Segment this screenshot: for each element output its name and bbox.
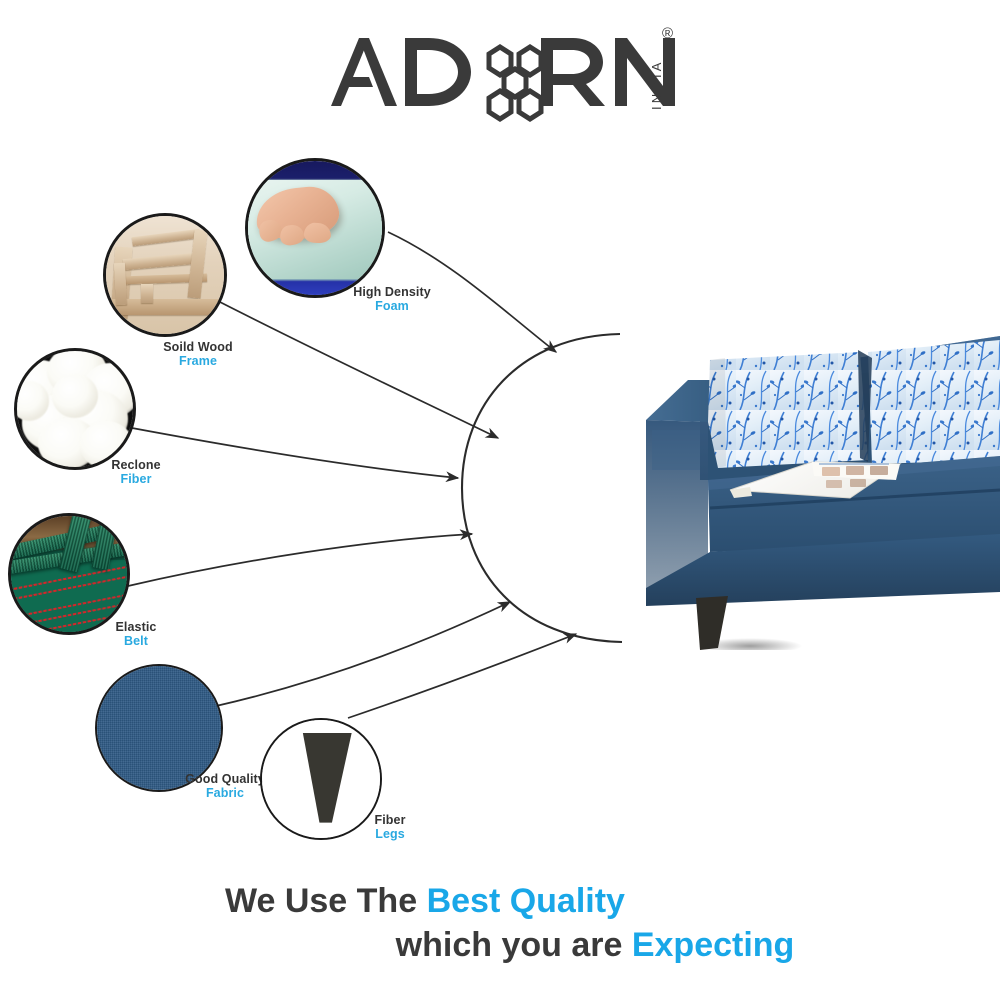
svg-text:INDIA: INDIA (649, 59, 664, 110)
label-high-density-foam: High Density Foam (332, 285, 452, 313)
label-elastic-belt: Elastic Belt (93, 620, 179, 648)
feature-image-solid-wood-frame (103, 213, 227, 337)
sofa-product-image (600, 330, 1000, 650)
logo-india-vertical: INDIA (649, 59, 664, 110)
arrow-elastic-belt (128, 534, 472, 586)
label-line2: Foam (332, 299, 452, 313)
label-reclone-fiber: Reclone Fiber (88, 458, 184, 486)
floral-cushion-right (868, 340, 1000, 464)
green-elastic-webbing-photo (11, 516, 127, 632)
tagline-row2-blue: Expecting (632, 926, 794, 964)
convergence-circle-arc (462, 334, 622, 642)
label-line1: Soild Wood (138, 340, 258, 354)
label-line1: Reclone (88, 458, 184, 472)
honeycomb-hexagons-icon (489, 47, 541, 119)
hand-pressing-foam-photo (248, 161, 382, 295)
adorn-india-logo: INDIA ® (325, 24, 685, 124)
tagline-row-1: We Use The Best Quality (0, 880, 1000, 924)
feature-image-high-density-foam (245, 158, 385, 298)
arrow-fiber-legs (348, 634, 576, 718)
label-line2: Fiber (88, 472, 184, 486)
label-line2: Legs (350, 827, 430, 841)
arrow-good-quality-fabric (216, 602, 510, 706)
product-feature-infographic: INDIA ® (0, 0, 1000, 1000)
wooden-sofa-frame-photo (106, 216, 224, 334)
tagline-row1-blue: Best Quality (427, 882, 625, 920)
tagline-row1-dark: We Use The (225, 882, 417, 920)
arrow-solid-wood-frame (216, 300, 498, 438)
feature-image-elastic-belt (8, 513, 130, 635)
floral-cushion-left (708, 352, 868, 468)
label-line1: Elastic (93, 620, 179, 634)
registered-trademark-symbol: ® (662, 25, 673, 42)
tagline: We Use The Best Quality which you are Ex… (0, 880, 1000, 967)
label-solid-wood-frame: Soild Wood Frame (138, 340, 258, 368)
tagline-row2-dark: which you are (396, 926, 623, 964)
label-line1: Fiber (350, 813, 430, 827)
feature-image-reclone-fiber (14, 348, 136, 470)
tapered-sofa-leg-icon (300, 733, 352, 823)
label-line2: Frame (138, 354, 258, 368)
label-line2: Belt (93, 634, 179, 648)
label-fiber-legs: Fiber Legs (350, 813, 430, 841)
label-line1: High Density (332, 285, 452, 299)
tagline-row-2: which you are Expecting (0, 924, 1000, 968)
white-fiber-fill-photo (17, 351, 133, 467)
